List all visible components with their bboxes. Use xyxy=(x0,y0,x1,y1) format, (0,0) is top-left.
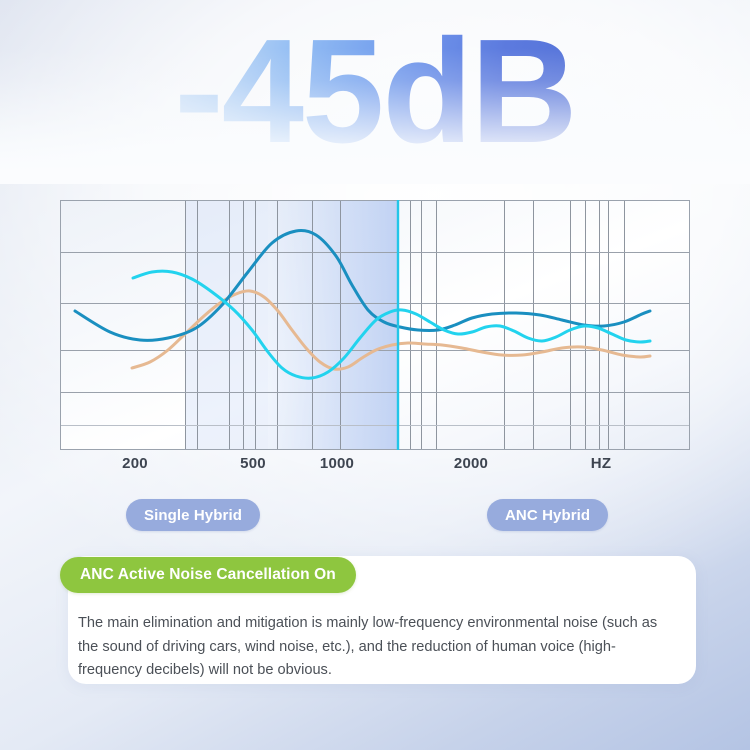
highlight-band xyxy=(185,200,398,450)
x-axis-tick-2000: 2000 xyxy=(454,455,488,472)
headline-container: -45dB xyxy=(0,14,750,184)
x-axis-tick-500: 500 xyxy=(240,455,266,472)
status-badge-anc-on: ANC Active Noise Cancellation On xyxy=(60,557,356,593)
legend-pill-anc-hybrid[interactable]: ANC Hybrid xyxy=(487,499,608,531)
x-axis-tick-labels: 20050010002000HZ xyxy=(60,455,690,479)
legend-pill-single-hybrid[interactable]: Single Hybrid xyxy=(126,499,260,531)
x-axis-tick-1000: 1000 xyxy=(320,455,354,472)
x-axis-tick-hz: HZ xyxy=(591,455,611,472)
info-body-text: The main elimination and mitigation is m… xyxy=(78,612,670,683)
x-axis-tick-200: 200 xyxy=(122,455,148,472)
headline-fade-overlay xyxy=(0,48,750,184)
page-title: -45dB xyxy=(174,14,575,169)
frequency-response-chart xyxy=(60,200,690,450)
chart-canvas xyxy=(60,200,690,450)
chart-legend: Single Hybrid ANC Hybrid xyxy=(60,499,690,533)
